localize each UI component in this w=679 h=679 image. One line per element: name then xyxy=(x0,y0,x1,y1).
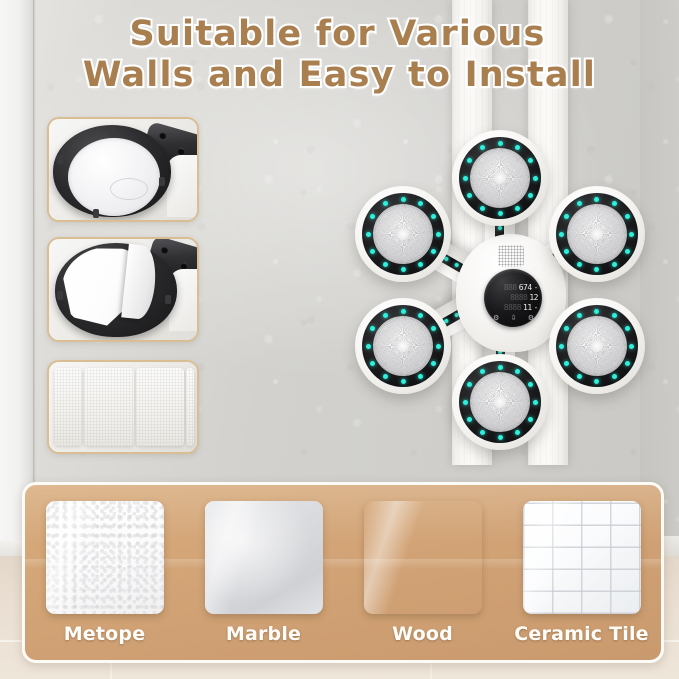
ring-led xyxy=(436,232,441,237)
ring-led xyxy=(528,158,533,163)
ring-led xyxy=(370,326,375,331)
ring-led xyxy=(564,249,569,254)
arm-led xyxy=(454,263,459,268)
adhesive-strip xyxy=(186,368,194,446)
ring-led xyxy=(625,326,630,331)
ring-led xyxy=(480,206,485,211)
swatch-gloss xyxy=(205,501,273,614)
pad-led-ring xyxy=(362,193,444,275)
pad-led-ring xyxy=(362,305,444,387)
ring-led xyxy=(431,249,436,254)
ring-led xyxy=(612,201,617,206)
lcd-icon: ⚙ xyxy=(493,314,499,322)
headline-line-2: Walls and Easy to Install xyxy=(0,55,679,96)
ring-clip xyxy=(93,209,99,218)
ring-led xyxy=(401,309,406,314)
ring-led xyxy=(366,344,371,349)
ring-led xyxy=(528,193,533,198)
swatch-gloss xyxy=(46,501,114,614)
material-swatch-label: Marble xyxy=(226,623,301,645)
target-pad[interactable] xyxy=(549,298,645,394)
ring-led xyxy=(594,309,599,314)
ring-led xyxy=(467,158,472,163)
lcd-status-icons: ⚙⇩⚙ xyxy=(493,314,534,322)
lcd-row3-value: 11 xyxy=(523,303,532,313)
lcd-row-3: 8888 11 - xyxy=(489,303,538,313)
ring-led xyxy=(577,262,582,267)
ring-led xyxy=(463,176,468,181)
lcd-row3-suffix: - xyxy=(534,303,538,313)
lcd-row-2: 8888 12 xyxy=(489,293,538,303)
adhesive-disc-marking xyxy=(110,178,148,200)
ring-clip xyxy=(57,155,63,164)
lcd-row3-ghost: 8888 xyxy=(504,303,521,313)
strip-texture xyxy=(84,368,134,446)
ring-led xyxy=(515,430,520,435)
inset-pad-back-adhesive xyxy=(47,117,199,222)
ring-led xyxy=(370,361,375,366)
material-swatch-wood xyxy=(364,501,482,614)
lcd-row2-value: 12 xyxy=(529,293,538,303)
ring-led xyxy=(564,326,569,331)
ring-led xyxy=(383,201,388,206)
lcd-row2-ghost: 8888 xyxy=(510,293,527,303)
ring-led xyxy=(467,193,472,198)
ring-led xyxy=(383,374,388,379)
material-swatch-cell: Wood xyxy=(357,501,489,645)
material-swatch-cell: Metope xyxy=(39,501,171,645)
target-pad[interactable] xyxy=(355,298,451,394)
inset-adhesive-strips xyxy=(47,360,199,454)
material-swatch-list: MetopeMarbleWoodCeramic Tile xyxy=(25,485,661,660)
ring-led xyxy=(629,344,634,349)
swatch-gloss xyxy=(523,501,591,614)
ring-led xyxy=(480,145,485,150)
adhesive-strip xyxy=(136,368,184,446)
ring-led xyxy=(612,374,617,379)
lcd-row1-value: 674 xyxy=(519,283,532,293)
ring-led xyxy=(577,374,582,379)
lcd-row1-suffix: - xyxy=(534,283,538,293)
ring-led xyxy=(383,262,388,267)
ring-led xyxy=(498,365,503,370)
reflex-trainer-device: 888 674 - 8888 12 8888 11 - ⚙⇩⚙ xyxy=(340,130,660,450)
ring-led xyxy=(612,313,617,318)
ring-led xyxy=(559,344,564,349)
lcd-rows: 888 674 - 8888 12 8888 11 - xyxy=(489,283,538,313)
target-pad[interactable] xyxy=(549,186,645,282)
arm-screw-hole xyxy=(159,131,168,140)
pad-strike-face[interactable] xyxy=(567,204,627,264)
ring-led xyxy=(528,382,533,387)
strip-texture xyxy=(54,368,82,446)
ring-clip xyxy=(57,291,63,300)
page-title: Suitable for Various Walls and Easy to I… xyxy=(0,14,679,96)
ring-led xyxy=(366,232,371,237)
pad-strike-face[interactable] xyxy=(470,372,530,432)
strip-texture xyxy=(186,368,194,446)
materials-banner: MetopeMarbleWoodCeramic Tile xyxy=(22,482,664,663)
pad-led-ring xyxy=(556,193,638,275)
material-swatch-marble xyxy=(205,501,323,614)
strip-texture xyxy=(136,368,184,446)
target-pad[interactable] xyxy=(355,186,451,282)
material-swatch-label: Wood xyxy=(392,623,453,645)
ring-led xyxy=(480,430,485,435)
ring-led xyxy=(480,369,485,374)
lcd-row1-ghost: 888 xyxy=(504,283,517,293)
pad-arm-white-shell xyxy=(167,155,199,217)
material-swatch-cell: Marble xyxy=(198,501,330,645)
adhesive-disc xyxy=(68,138,160,216)
ring-led xyxy=(431,361,436,366)
ring-led xyxy=(418,201,423,206)
arm-screw-hole xyxy=(160,246,169,255)
lcd-row-1: 888 674 - xyxy=(489,283,538,293)
swatch-gloss xyxy=(364,501,432,614)
ring-led xyxy=(559,232,564,237)
ring-led xyxy=(498,435,503,440)
pad-led-ring xyxy=(556,305,638,387)
pad-housing-photo xyxy=(53,125,171,217)
headline-line-1: Suitable for Various xyxy=(0,14,679,55)
ring-led xyxy=(629,232,634,237)
ring-led xyxy=(515,145,520,150)
material-swatch-label: Metope xyxy=(64,623,146,645)
ring-led xyxy=(625,361,630,366)
ring-led xyxy=(463,400,468,405)
pad-strike-face[interactable] xyxy=(373,316,433,376)
pad-strike-face[interactable] xyxy=(567,316,627,376)
target-pad[interactable] xyxy=(452,354,548,450)
ring-led xyxy=(533,176,538,181)
ring-led xyxy=(594,267,599,272)
ring-clip xyxy=(159,177,165,186)
ring-led xyxy=(625,249,630,254)
ring-led xyxy=(594,379,599,384)
ring-clip xyxy=(109,126,115,135)
ring-led xyxy=(418,374,423,379)
arm-led xyxy=(498,226,502,230)
ring-clip xyxy=(165,295,171,304)
pad-led-ring xyxy=(459,137,541,219)
pad-strike-face[interactable] xyxy=(373,204,433,264)
ring-led xyxy=(564,361,569,366)
ring-led xyxy=(467,382,472,387)
ring-led xyxy=(436,344,441,349)
ring-led xyxy=(625,214,630,219)
speaker-grille-icon xyxy=(498,245,524,267)
ring-led xyxy=(401,267,406,272)
ring-led xyxy=(533,400,538,405)
ring-led xyxy=(515,206,520,211)
lcd-display: 888 674 - 8888 12 8888 11 - ⚙⇩⚙ xyxy=(484,269,542,327)
ring-led xyxy=(528,417,533,422)
material-swatch-cell: Ceramic Tile xyxy=(516,501,648,645)
ring-led xyxy=(515,369,520,374)
ring-led xyxy=(383,313,388,318)
ring-led xyxy=(498,211,503,216)
material-swatch-tile xyxy=(523,501,641,614)
ring-led xyxy=(431,214,436,219)
product-marketing-image: Suitable for Various Walls and Easy to I… xyxy=(0,0,679,679)
material-swatch-metope xyxy=(46,501,164,614)
ring-led xyxy=(370,249,375,254)
ring-led xyxy=(401,379,406,384)
material-swatch-label: Ceramic Tile xyxy=(514,623,648,645)
ring-led xyxy=(467,417,472,422)
pad-strike-face[interactable] xyxy=(470,148,530,208)
lcd-icon: ⇩ xyxy=(511,314,517,322)
ring-led xyxy=(564,214,569,219)
pad-led-ring xyxy=(459,361,541,443)
inset-pad-peel-film xyxy=(47,237,199,342)
ring-led xyxy=(418,313,423,318)
ring-led xyxy=(577,201,582,206)
ring-led xyxy=(370,214,375,219)
adhesive-strip xyxy=(54,368,82,446)
ring-led xyxy=(498,141,503,146)
ring-led xyxy=(431,326,436,331)
ring-led xyxy=(401,197,406,202)
ring-led xyxy=(594,197,599,202)
ring-led xyxy=(418,262,423,267)
target-pad[interactable] xyxy=(452,130,548,226)
ring-led xyxy=(612,262,617,267)
ring-led xyxy=(577,313,582,318)
adhesive-strip xyxy=(84,368,134,446)
lcd-icon: ⚙ xyxy=(528,314,534,322)
